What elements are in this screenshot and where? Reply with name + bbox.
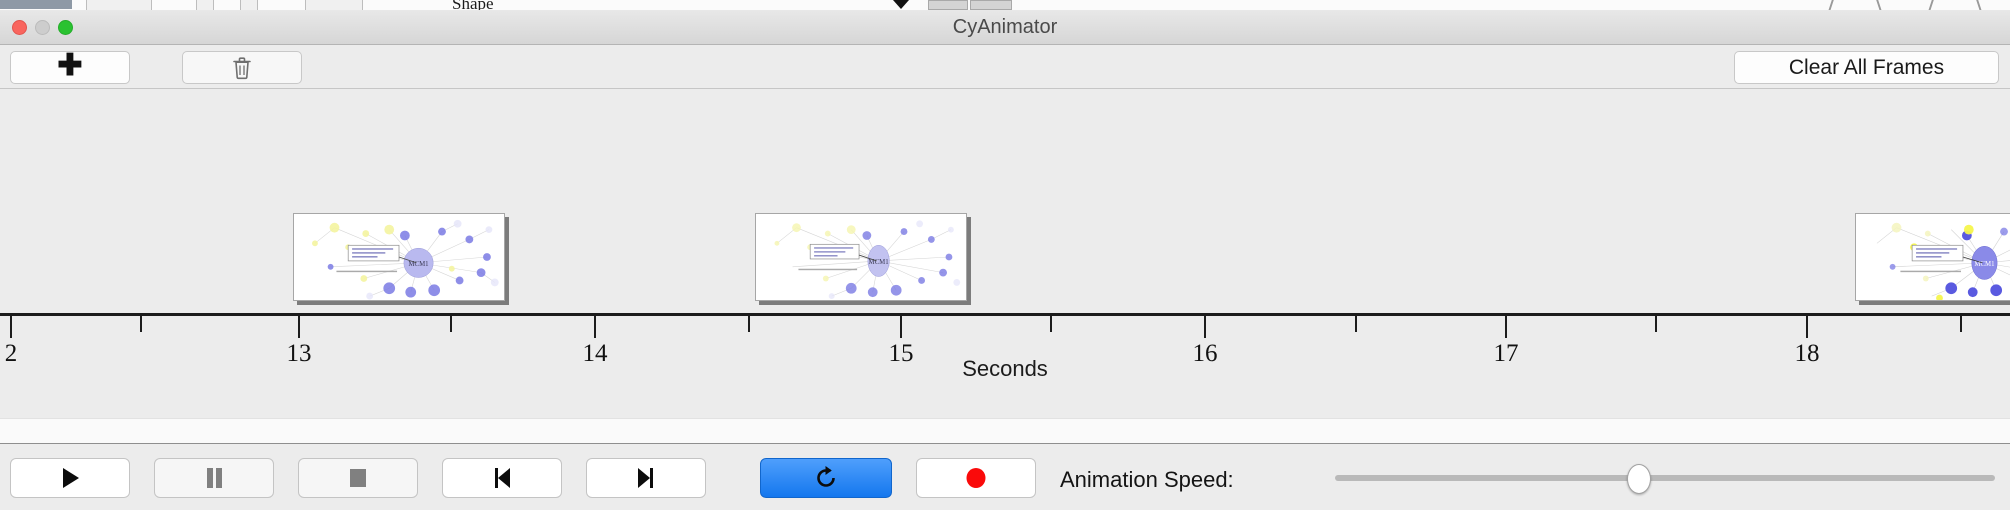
trash-icon — [232, 56, 252, 80]
axis-tick-17 — [1505, 316, 1507, 338]
loop-icon — [813, 465, 839, 491]
axis-minor-tick-1 — [450, 316, 452, 332]
stop-button[interactable] — [298, 458, 418, 498]
axis-tick-14 — [594, 316, 596, 338]
play-icon — [59, 466, 81, 490]
axis-tick-13 — [298, 316, 300, 338]
background-slash-right-2 — [1976, 0, 1982, 10]
background-marker-icon — [893, 0, 909, 9]
keyframe-thumbnail-2[interactable]: MCM1 — [755, 213, 967, 301]
svg-text:MCM1: MCM1 — [869, 259, 889, 266]
axis-minor-tick-0 — [140, 316, 142, 332]
axis-minor-tick-4 — [1355, 316, 1357, 332]
axis-minor-tick-3 — [1050, 316, 1052, 332]
clear-all-frames-button[interactable]: Clear All Frames — [1734, 51, 1999, 84]
plus-icon: ✚ — [57, 51, 82, 81]
play-button[interactable] — [10, 458, 130, 498]
background-selected-tab — [0, 0, 72, 9]
slider-track — [1335, 475, 1995, 481]
background-slash-right — [1876, 0, 1882, 10]
background-tab-2 — [196, 0, 214, 10]
pause-icon — [203, 466, 225, 490]
transport-bar: Animation Speed: — [0, 445, 2010, 510]
pause-button[interactable] — [154, 458, 274, 498]
animation-speed-slider[interactable] — [1335, 458, 1995, 498]
traffic-lights — [12, 20, 73, 35]
zoom-button[interactable] — [58, 20, 73, 35]
delete-frame-button[interactable] — [182, 51, 302, 84]
skip-forward-icon — [635, 466, 657, 490]
background-tab-4 — [305, 0, 363, 10]
stop-icon — [347, 466, 369, 490]
cyanimator-window: Shape CyAnimator ✚ — [0, 0, 2010, 510]
close-button[interactable] — [12, 20, 27, 35]
axis-tick-15 — [900, 316, 902, 338]
slider-thumb[interactable] — [1627, 464, 1651, 494]
clear-all-frames-label: Clear All Frames — [1789, 56, 1944, 80]
window-title: CyAnimator — [0, 10, 2010, 45]
axis-minor-tick-6 — [1960, 316, 1962, 332]
record-icon — [964, 466, 988, 490]
skip-to-start-button[interactable] — [442, 458, 562, 498]
timeline-scrollbar-track[interactable] — [0, 418, 2010, 444]
animation-speed-label: Animation Speed: — [1060, 467, 1234, 493]
keyframe-thumbnail-1[interactable]: MCM1 — [293, 213, 505, 301]
axis-tick-18 — [1806, 316, 1808, 338]
loop-button[interactable] — [760, 458, 892, 498]
axis-minor-tick-2 — [748, 316, 750, 332]
network-graph-1: MCM1 — [294, 214, 504, 300]
record-button[interactable] — [916, 458, 1036, 498]
axis-tick-2 — [10, 316, 12, 338]
background-window-label: Shape — [452, 0, 494, 10]
network-graph-3: MCM1 — [1856, 214, 2010, 300]
background-box-2 — [970, 0, 1012, 10]
network-graph-2: MCM1 — [756, 214, 966, 300]
axis-title: Seconds — [0, 356, 2010, 382]
axis-tick-16 — [1204, 316, 1206, 338]
minimize-button[interactable] — [35, 20, 50, 35]
background-window-strip: Shape — [0, 0, 2010, 10]
keyframe-thumbnail-3[interactable]: MCM1 — [1855, 213, 2010, 301]
background-slash-left — [1828, 0, 1834, 10]
skip-back-icon — [491, 466, 513, 490]
title-bar[interactable]: CyAnimator — [0, 10, 2010, 45]
background-tab-3 — [240, 0, 258, 10]
svg-text:MCM1: MCM1 — [1974, 261, 1994, 268]
background-tab-1 — [86, 0, 152, 10]
keyframe-timeline[interactable]: MCM1 — [0, 90, 2010, 314]
skip-to-end-button[interactable] — [586, 458, 706, 498]
axis-minor-tick-5 — [1655, 316, 1657, 332]
toolbar: ✚ Clear All Frames — [0, 46, 2010, 89]
svg-text:MCM1: MCM1 — [408, 261, 428, 268]
background-slash-left-2 — [1928, 0, 1934, 10]
background-box-1 — [928, 0, 968, 10]
add-frame-button[interactable]: ✚ — [10, 51, 130, 84]
